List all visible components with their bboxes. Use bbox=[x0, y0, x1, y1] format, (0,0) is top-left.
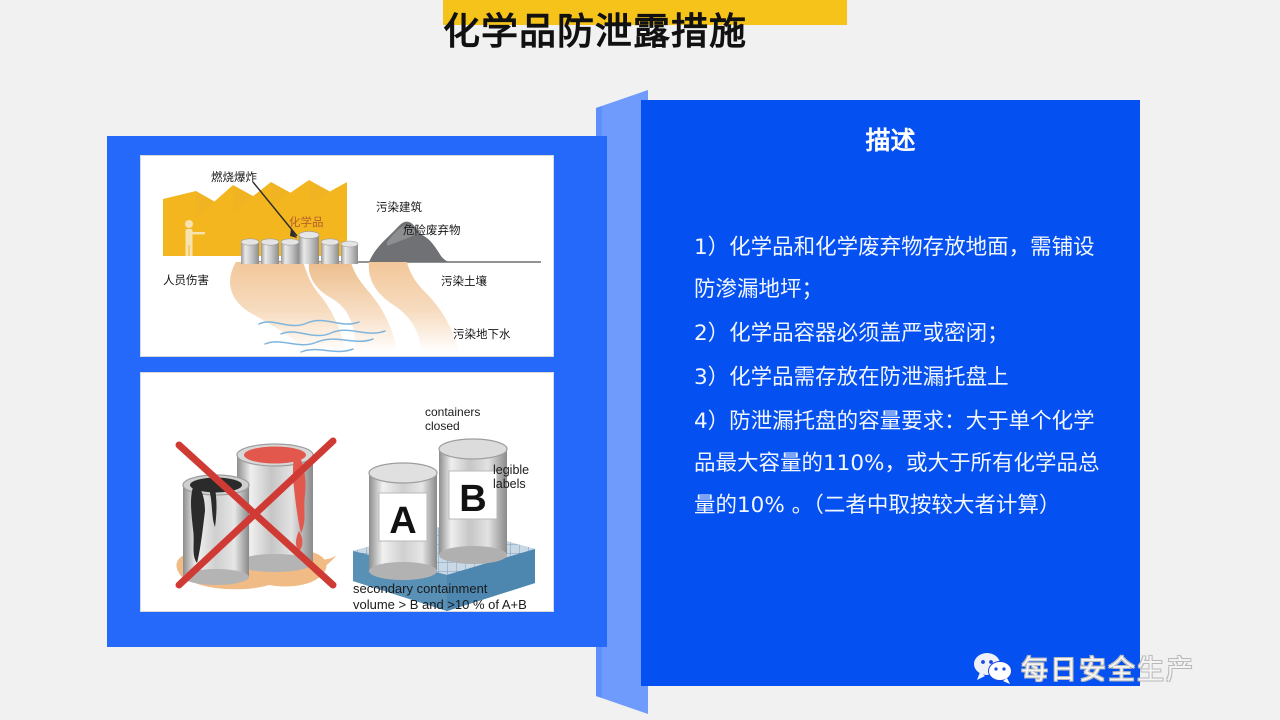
page-title: 化学品防泄露措施 bbox=[443, 8, 863, 56]
svg-text:B: B bbox=[459, 478, 486, 520]
label-containers-closed: containers closed bbox=[425, 405, 480, 433]
description-item-3: 3）化学品需存放在防泄漏托盘上 bbox=[694, 357, 1109, 399]
description-item-2: 2）化学品容器必须盖严或密闭； bbox=[694, 313, 1109, 355]
watermark: 每日安全生产 bbox=[972, 648, 1195, 687]
label-fire-explosion: 燃烧爆炸 bbox=[211, 169, 257, 185]
label-polluted-groundwater: 污染地下水 bbox=[453, 326, 511, 342]
figure-pollution-diagram: 燃烧爆炸 化学品 污染建筑 危险废弃物 人员伤害 污染土壤 污染地下水 bbox=[140, 155, 554, 357]
wechat-icon bbox=[972, 651, 1014, 685]
description-item-4: 4）防泄漏托盘的容量要求：大于单个化学品最大容量的110%，或大于所有化学品总量… bbox=[694, 401, 1109, 527]
label-polluted-soil: 污染土壤 bbox=[441, 273, 487, 289]
panel-heading: 描述 bbox=[641, 121, 1140, 157]
watermark-text: 每日安全生产 bbox=[1021, 648, 1195, 687]
label-containment-note: secondary containment volume > B and >10… bbox=[353, 581, 527, 612]
containment-diagram-svg: B A bbox=[141, 373, 554, 612]
label-hazardous-waste: 危险废弃物 bbox=[403, 222, 461, 238]
description-panel: 描述 1）化学品和化学废弃物存放地面，需铺设防渗漏地坪； 2）化学品容器必须盖严… bbox=[641, 100, 1140, 686]
illustration-card: 燃烧爆炸 化学品 污染建筑 危险废弃物 人员伤害 污染土壤 污染地下水 bbox=[107, 136, 607, 647]
svg-text:A: A bbox=[389, 500, 416, 542]
figure-containment-diagram: B A containers closed legible labels sec… bbox=[140, 372, 554, 612]
label-polluted-building: 污染建筑 bbox=[376, 199, 422, 215]
panel-body: 1）化学品和化学废弃物存放地面，需铺设防渗漏地坪； 2）化学品容器必须盖严或密闭… bbox=[694, 227, 1109, 529]
label-legible-labels: legible labels bbox=[493, 463, 529, 491]
label-personal-injury: 人员伤害 bbox=[163, 272, 209, 288]
label-chemicals: 化学品 bbox=[289, 214, 324, 230]
description-item-1: 1）化学品和化学废弃物存放地面，需铺设防渗漏地坪； bbox=[694, 227, 1109, 311]
slide-root: 化学品防泄露措施 bbox=[0, 0, 1280, 720]
